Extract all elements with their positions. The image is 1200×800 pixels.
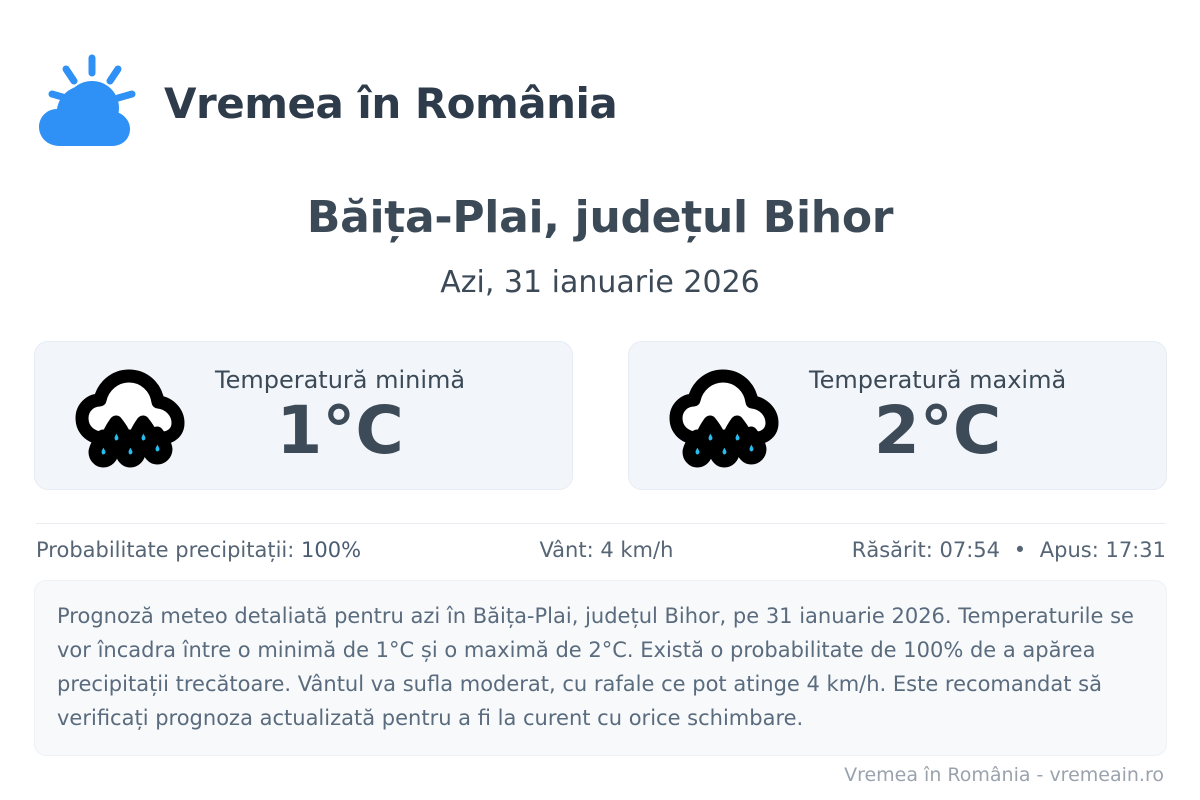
sun-times-stat: Răsărit: 07:54 • Apus: 17:31 — [852, 538, 1166, 562]
card-min-texts: Temperatură minimă 1°C — [215, 366, 465, 465]
weather-stats: Probabilitate precipitații: 100% Vânt: 4… — [36, 538, 1166, 562]
card-min-label: Temperatură minimă — [215, 366, 465, 394]
card-max-label: Temperatură maximă — [809, 366, 1066, 394]
card-max-texts: Temperatură maximă 2°C — [809, 366, 1066, 465]
weather-forecast-page: Vremea în România Băița-Plai, județul Bi… — [0, 0, 1200, 800]
temperature-cards: Temperatură minimă 1°C Temp — [34, 341, 1167, 490]
sunrise-time: Răsărit: 07:54 — [852, 538, 1000, 562]
precipitation-label: Probabilitate precipitații: — [36, 538, 294, 562]
rain-cloud-icon — [667, 364, 783, 468]
rain-cloud-icon — [73, 364, 189, 468]
sunset-time: Apus: 17:31 — [1040, 538, 1166, 562]
page-title: Băița-Plai, județul Bihor — [0, 192, 1200, 243]
forecast-date: Azi, 31 ianuarie 2026 — [0, 265, 1200, 300]
precipitation-stat: Probabilitate precipitații: 100% — [36, 538, 361, 562]
sun-cloud-icon — [36, 52, 148, 156]
card-max-temperature: Temperatură maximă 2°C — [628, 341, 1167, 490]
card-min-value: 1°C — [276, 396, 403, 465]
wind-stat: Vânt: 4 km/h — [539, 538, 673, 562]
site-header: Vremea în România — [36, 52, 617, 156]
precipitation-value: 100% — [301, 538, 361, 562]
brand-name: Vremea în România — [164, 81, 617, 126]
stats-divider — [36, 523, 1166, 524]
footer-credit: Vremea în România - vremeain.ro — [844, 764, 1164, 786]
forecast-description: Prognoză meteo detaliată pentru azi în B… — [34, 580, 1167, 756]
card-max-value: 2°C — [874, 396, 1001, 465]
bullet-separator-icon: • — [1007, 538, 1033, 562]
card-min-temperature: Temperatură minimă 1°C — [34, 341, 573, 490]
